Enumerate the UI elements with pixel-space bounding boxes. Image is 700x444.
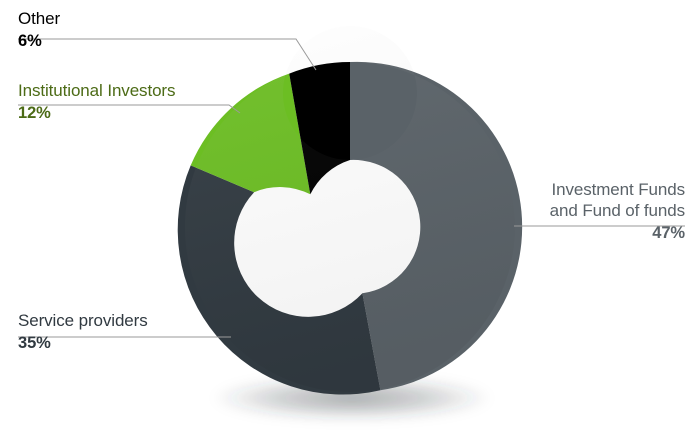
- callout-other[interactable]: Other 6%: [18, 8, 298, 52]
- callout-institutional-investors[interactable]: Institutional Investors 12%: [18, 80, 230, 124]
- callout-investment-funds-percent: 47%: [514, 221, 685, 244]
- callout-service-providers-label: Service providers: [18, 310, 229, 331]
- donut-chart: Other 6% Institutional Investors 12% Ser…: [0, 0, 700, 444]
- callout-other-percent: 6%: [18, 29, 298, 52]
- slice-investment-funds[interactable]: [350, 62, 522, 390]
- callout-investment-funds[interactable]: Investment Funds and Fund of funds 47%: [514, 179, 685, 244]
- slice-service-providers[interactable]: [178, 165, 381, 394]
- callout-investment-funds-label: Investment Funds and Fund of funds: [514, 179, 685, 221]
- callout-other-label: Other: [18, 8, 298, 29]
- callout-institutional-investors-label: Institutional Investors: [18, 80, 230, 101]
- callout-service-providers-percent: 35%: [18, 331, 229, 354]
- callout-institutional-investors-percent: 12%: [18, 101, 230, 124]
- callout-service-providers[interactable]: Service providers 35%: [18, 310, 229, 354]
